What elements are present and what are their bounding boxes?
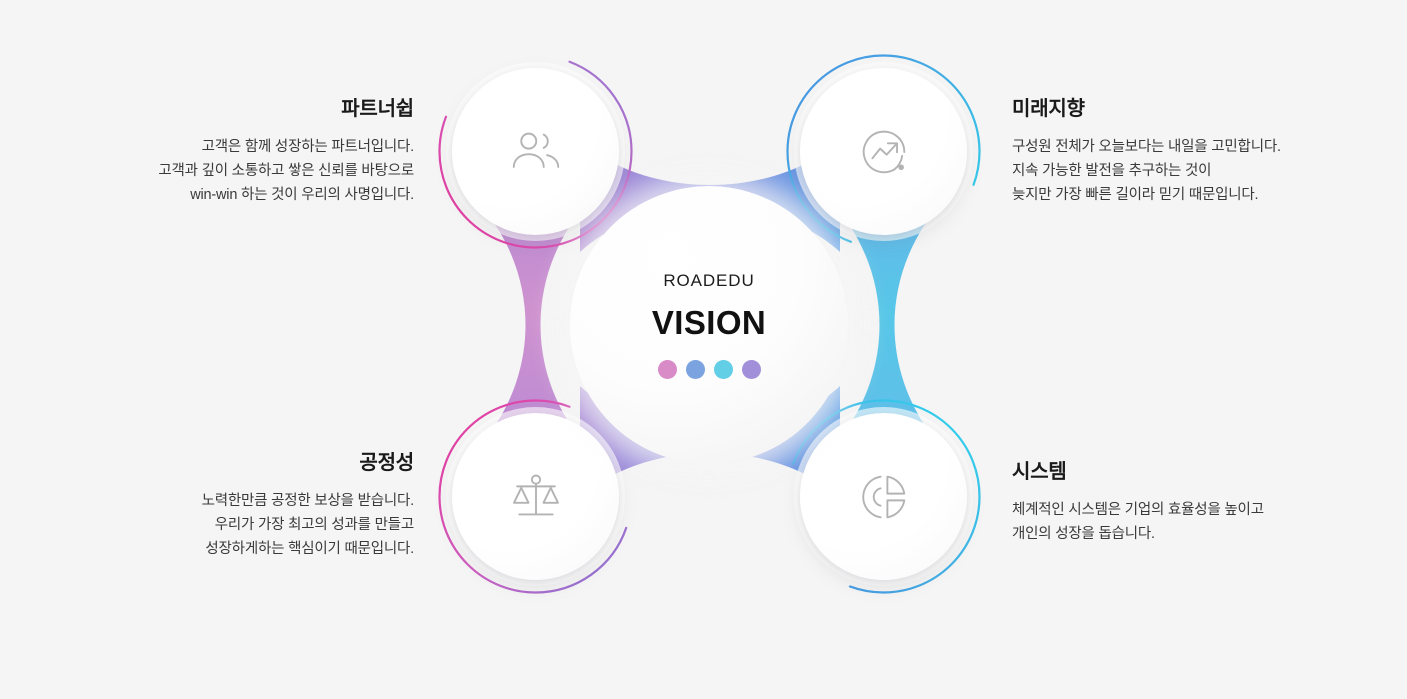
vision-hub: ROADEDU VISION [570,186,848,464]
future-body: 구성원 전체가 오늘보다는 내일을 고민합니다. 지속 가능한 발전을 추구하는… [1012,135,1342,207]
hub-title: VISION [652,304,766,342]
partnership-title: 파트너쉽 [84,92,414,121]
hub-kicker: ROADEDU [663,271,754,291]
pie-chart-icon [855,468,913,526]
node-fairness[interactable] [452,413,619,580]
balance-scales-icon [507,468,565,526]
hub-dot-pink [658,360,677,379]
partnership-body: 고객은 함께 성장하는 파트너입니다. 고객과 깊이 소통하고 쌓은 신뢰를 바… [84,135,414,207]
system-body: 체계적인 시스템은 기업의 효율성을 높이고 개인의 성장을 돕습니다. [1012,498,1342,546]
people-group-icon [507,123,565,181]
text-block-partnership: 파트너쉽 고객은 함께 성장하는 파트너입니다. 고객과 깊이 소통하고 쌓은 … [84,92,414,207]
hub-dot-cyan [714,360,733,379]
text-block-future: 미래지향 구성원 전체가 오늘보다는 내일을 고민합니다. 지속 가능한 발전을… [1012,92,1342,207]
fairness-title: 공정성 [84,446,414,475]
text-block-fairness: 공정성 노력한만큼 공정한 보상을 받습니다. 우리가 가장 최고의 성과를 만… [84,446,414,561]
text-block-system: 시스템 체계적인 시스템은 기업의 효율성을 높이고 개인의 성장을 돕습니다. [1012,455,1342,546]
hub-dots [658,360,761,379]
system-title: 시스템 [1012,455,1342,484]
node-future[interactable] [800,68,967,235]
vision-diagram: ROADEDU VISION [430,40,990,610]
hub-dot-purple [742,360,761,379]
vision-infographic: ROADEDU VISION 파트너쉽 고객은 함께 성장하는 파트너입니다. … [0,0,1407,699]
future-title: 미래지향 [1012,92,1342,121]
fairness-body: 노력한만큼 공정한 보상을 받습니다. 우리가 가장 최고의 성과를 만들고 성… [84,489,414,561]
node-partnership[interactable] [452,68,619,235]
hub-dot-blue [686,360,705,379]
node-system[interactable] [800,413,967,580]
trend-up-chart-icon [855,123,913,181]
